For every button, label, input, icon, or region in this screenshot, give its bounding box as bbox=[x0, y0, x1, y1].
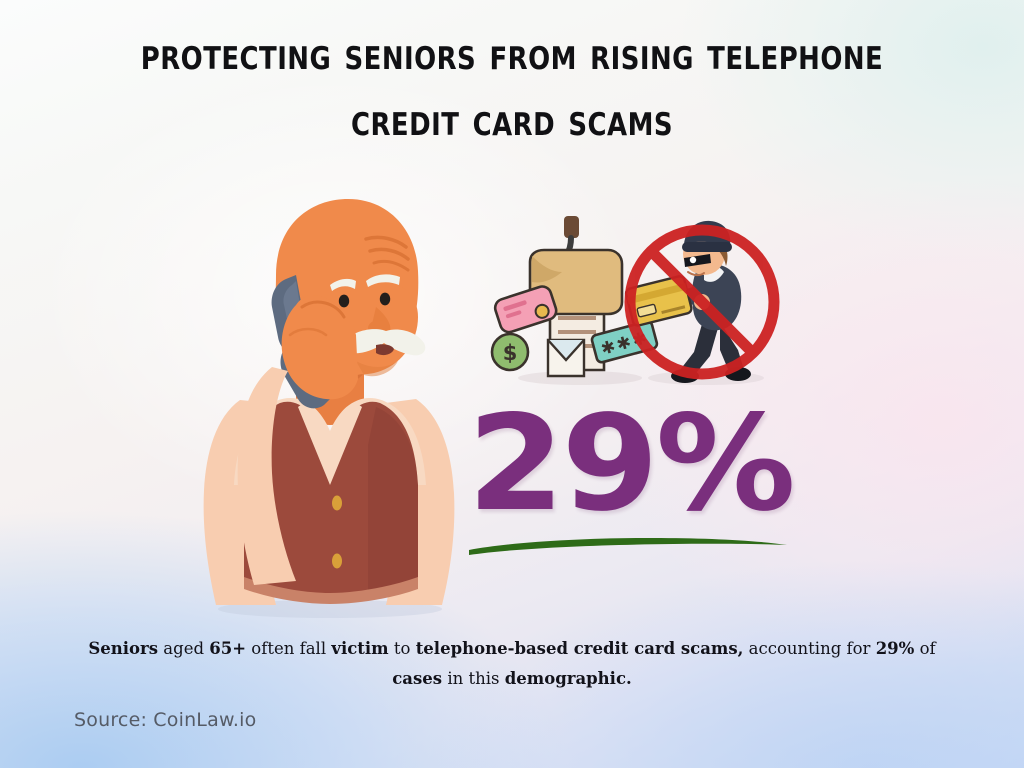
caption-part-11: cases bbox=[392, 669, 442, 688]
man-eye-right bbox=[380, 293, 390, 306]
caption-part-1: Seniors bbox=[88, 639, 158, 658]
dollar-coin: $ bbox=[492, 334, 528, 370]
thief-beanie-brim bbox=[682, 242, 732, 252]
thief-figure bbox=[625, 221, 751, 383]
man-vest-button-top bbox=[332, 496, 342, 511]
svg-text:$: $ bbox=[503, 341, 518, 365]
statistic-block: 29% bbox=[455, 398, 805, 573]
man-vest-button-bottom bbox=[332, 554, 342, 569]
infographic-canvas: Protecting Seniors from Rising Telephone… bbox=[0, 0, 1024, 768]
caption-part-9: 29% bbox=[876, 639, 915, 658]
hook-handle bbox=[564, 216, 579, 238]
source-attribution: Source: CoinLaw.io bbox=[74, 709, 256, 731]
statistic-value: 29% bbox=[445, 398, 816, 530]
scam-icons-illustration: $ ✱✱✱ bbox=[488, 210, 788, 400]
caption-part-7: telephone-based credit card scams, bbox=[416, 639, 744, 658]
statistic-underline bbox=[463, 531, 793, 559]
caption-part-6: to bbox=[389, 639, 416, 658]
caption-part-2: aged bbox=[158, 639, 209, 658]
caption-part-8: accounting for bbox=[743, 639, 875, 658]
caption-part-3: 65+ bbox=[209, 639, 246, 658]
title-line-2: Credit Card Scams bbox=[36, 88, 988, 154]
man-eye-left bbox=[339, 295, 349, 308]
caption-part-13: demographic. bbox=[505, 669, 632, 688]
pink-credit-card bbox=[493, 284, 559, 334]
elderly-man-illustration bbox=[180, 185, 480, 615]
caption-part-10: of bbox=[914, 639, 935, 658]
caption-part-12: in this bbox=[442, 669, 505, 688]
caption-part-5: victim bbox=[331, 639, 388, 658]
caption-part-4: often fall bbox=[246, 639, 331, 658]
page-title: Protecting Seniors from Rising Telephone… bbox=[0, 22, 1024, 154]
caption-text: Seniors aged 65+ often fall victim to te… bbox=[78, 634, 946, 694]
title-line-1: Protecting Seniors from Rising Telephone bbox=[36, 22, 988, 88]
